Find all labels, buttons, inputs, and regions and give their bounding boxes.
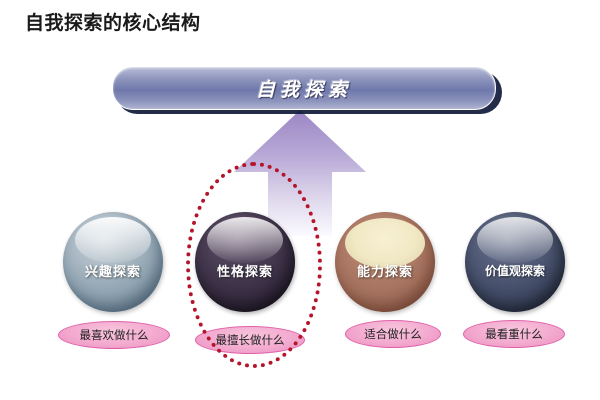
main-banner: 自我探索 xyxy=(112,66,502,114)
sphere-ability-label: 能力探索 xyxy=(357,261,413,280)
banner-body: 自我探索 xyxy=(112,66,496,110)
sphere-gloss-highlight xyxy=(477,217,553,263)
pill-ability-label: 适合做什么 xyxy=(364,326,422,342)
pill-interest-label: 最喜欢做什么 xyxy=(80,327,149,343)
banner-label: 自我探索 xyxy=(256,75,352,102)
sphere-values[interactable]: 价值观探索 xyxy=(465,212,565,312)
sphere-interest[interactable]: 兴趣探索 xyxy=(63,212,163,312)
pill-personality-label: 最擅长做什么 xyxy=(216,332,285,348)
sphere-personality[interactable]: 性格探索 xyxy=(195,212,295,312)
sphere-values-label: 价值观探索 xyxy=(485,262,545,279)
pill-interest: 最喜欢做什么 xyxy=(58,321,170,349)
sphere-gloss-highlight xyxy=(207,217,283,263)
sphere-ability[interactable]: 能力探索 xyxy=(335,212,435,312)
page-title: 自我探索的核心结构 xyxy=(25,8,201,35)
pill-values: 最看重什么 xyxy=(463,320,565,348)
sphere-interest-label: 兴趣探索 xyxy=(85,261,141,280)
slide-canvas: 自我探索的核心结构 自我探索 兴趣探索 性格探索 能力探索 价值观 xyxy=(0,0,600,400)
pill-values-label: 最看重什么 xyxy=(485,326,543,342)
sphere-personality-label: 性格探索 xyxy=(217,261,273,280)
pill-personality: 最擅长做什么 xyxy=(195,326,305,354)
sphere-gloss-highlight xyxy=(75,217,151,263)
pill-ability: 适合做什么 xyxy=(345,320,441,348)
